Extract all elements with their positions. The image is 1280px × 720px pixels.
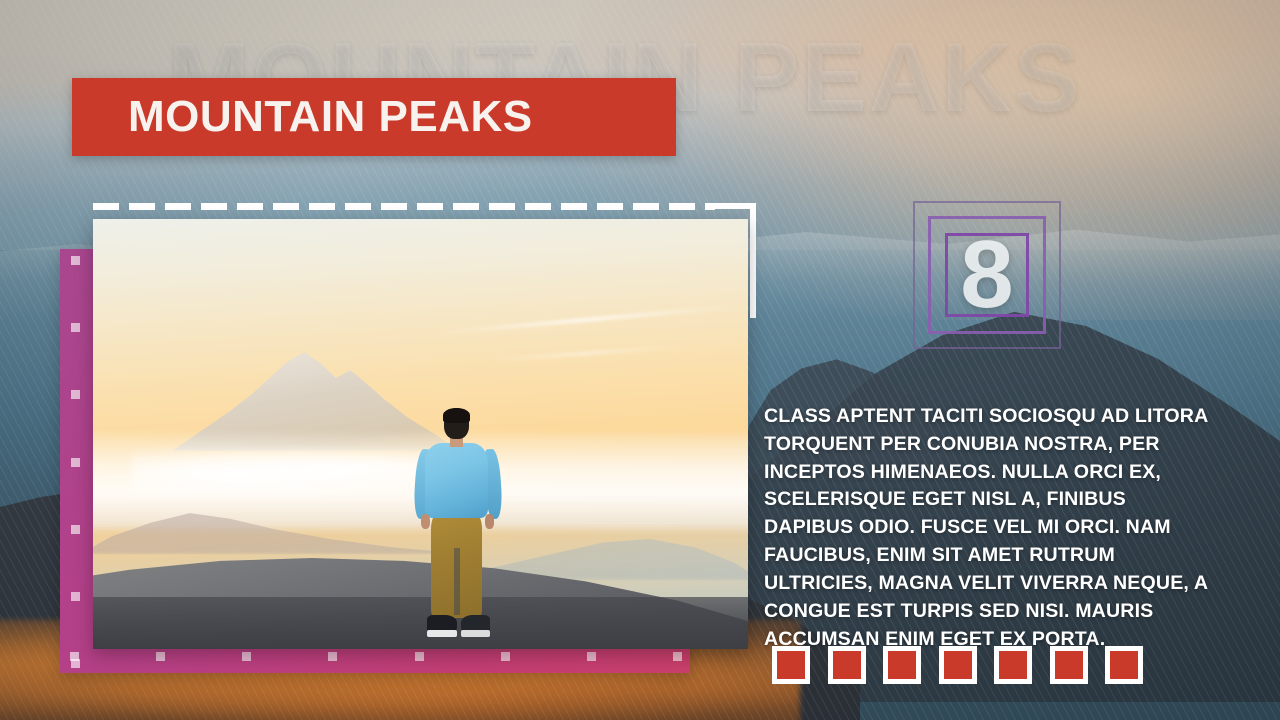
marker-square-row: [772, 646, 1143, 684]
hiker-left-sole: [427, 630, 456, 637]
corner-bracket-right: [750, 203, 756, 318]
frame-dot: [587, 652, 596, 661]
marker-1[interactable]: [772, 646, 810, 684]
page-title: MOUNTAIN PEAKS: [72, 95, 533, 139]
marker-3[interactable]: [883, 646, 921, 684]
hiker-left-hand: [421, 514, 430, 528]
marker-2[interactable]: [828, 646, 866, 684]
hiker-right-sole: [461, 630, 490, 637]
frame-dot: [328, 652, 337, 661]
frame-dot: [156, 652, 165, 661]
frame-dot: [242, 652, 251, 661]
frame-dot: [71, 323, 80, 332]
hiker-hair: [443, 408, 470, 422]
frame-dot: [70, 652, 79, 661]
marker-fill: [1055, 651, 1083, 679]
frame-dots-horizontal: [70, 652, 682, 662]
frame-dot: [501, 652, 510, 661]
frame-dot: [71, 592, 80, 601]
body-paragraph: CLASS APTENT TACITI SOCIOSQU AD LITORA T…: [764, 403, 1210, 653]
frame-dots-vertical: [71, 256, 81, 668]
frame-dot: [71, 390, 80, 399]
main-photo: [93, 219, 748, 649]
marker-fill: [944, 651, 972, 679]
frame-dot: [415, 652, 424, 661]
number-badge: 8: [913, 201, 1061, 349]
hiker-leg-gap: [454, 548, 459, 615]
dashed-rule: [93, 203, 715, 210]
marker-fill: [1110, 651, 1138, 679]
hiker-right-hand: [485, 514, 494, 528]
marker-fill: [999, 651, 1027, 679]
marker-fill: [833, 651, 861, 679]
marker-7[interactable]: [1105, 646, 1143, 684]
marker-6[interactable]: [1050, 646, 1088, 684]
hiker-torso: [425, 443, 488, 518]
badge-number: 8: [913, 201, 1061, 349]
marker-5[interactable]: [994, 646, 1032, 684]
frame-dot: [71, 525, 80, 534]
marker-4[interactable]: [939, 646, 977, 684]
marker-fill: [777, 651, 805, 679]
frame-dot: [673, 652, 682, 661]
title-bar: MOUNTAIN PEAKS: [72, 78, 676, 156]
photo-hiker: [404, 408, 509, 649]
frame-dot: [71, 256, 80, 265]
frame-dot: [71, 458, 80, 467]
slide-stage: MOUNTAIN PEAKS MOUNTAIN PEAKS: [0, 0, 1280, 720]
marker-fill: [888, 651, 916, 679]
